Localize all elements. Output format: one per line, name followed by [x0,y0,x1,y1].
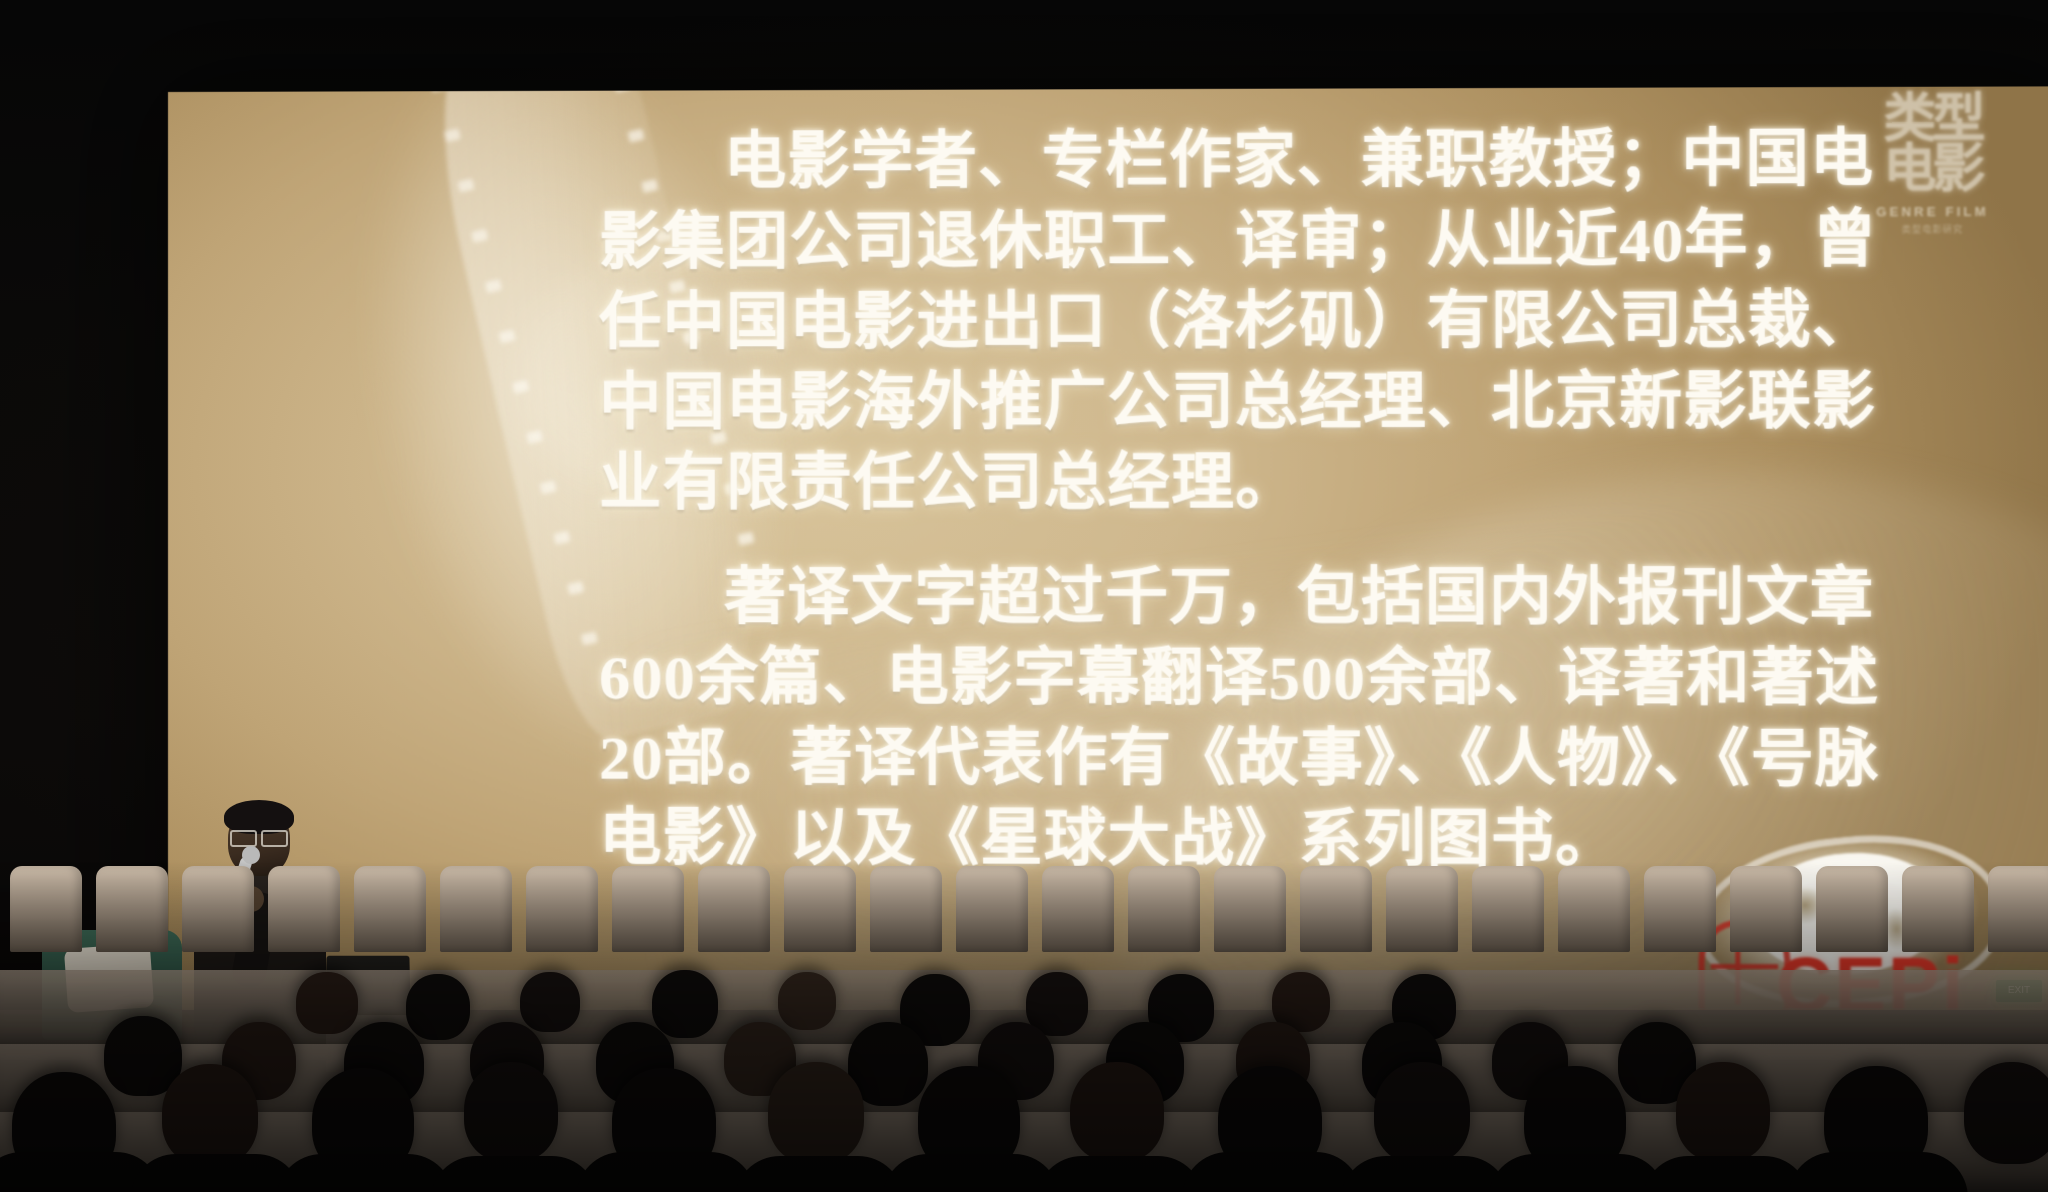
audience-shadow-overlay [0,862,2048,1192]
screenshot-root: 电影学者、专栏作家、兼职教授；中国电影集团公司退休职工、译审；从业近40年，曾任… [0,0,2048,1192]
presenter-hair [224,800,294,834]
genre-film-logo-latin: GENRE FILM [1856,204,2009,220]
slide-body-text: 电影学者、专栏作家、兼职教授；中国电影集团公司退休职工、译审；从业近40年，曾任… [599,119,1886,887]
audience [0,862,2048,1192]
slide-paragraph-2: 著译文字超过千万，包括国内外报刊文章600余篇、电影字幕翻译500余部、译著和著… [599,558,1886,882]
genre-film-logo-subtitle: 类型电影研究 [1856,222,2009,235]
genre-film-logo: 类型 电影 GENRE FILM 类型电影研究 [1856,95,2009,236]
slide-paragraph-1: 电影学者、专栏作家、兼职教授；中国电影集团公司退休职工、译审；从业近40年，曾任… [599,119,1886,524]
glasses-icon [230,830,288,843]
genre-film-logo-cjk-line1: 类型 [1856,95,2009,146]
genre-film-logo-cjk-line2: 电影 [1856,145,2009,196]
